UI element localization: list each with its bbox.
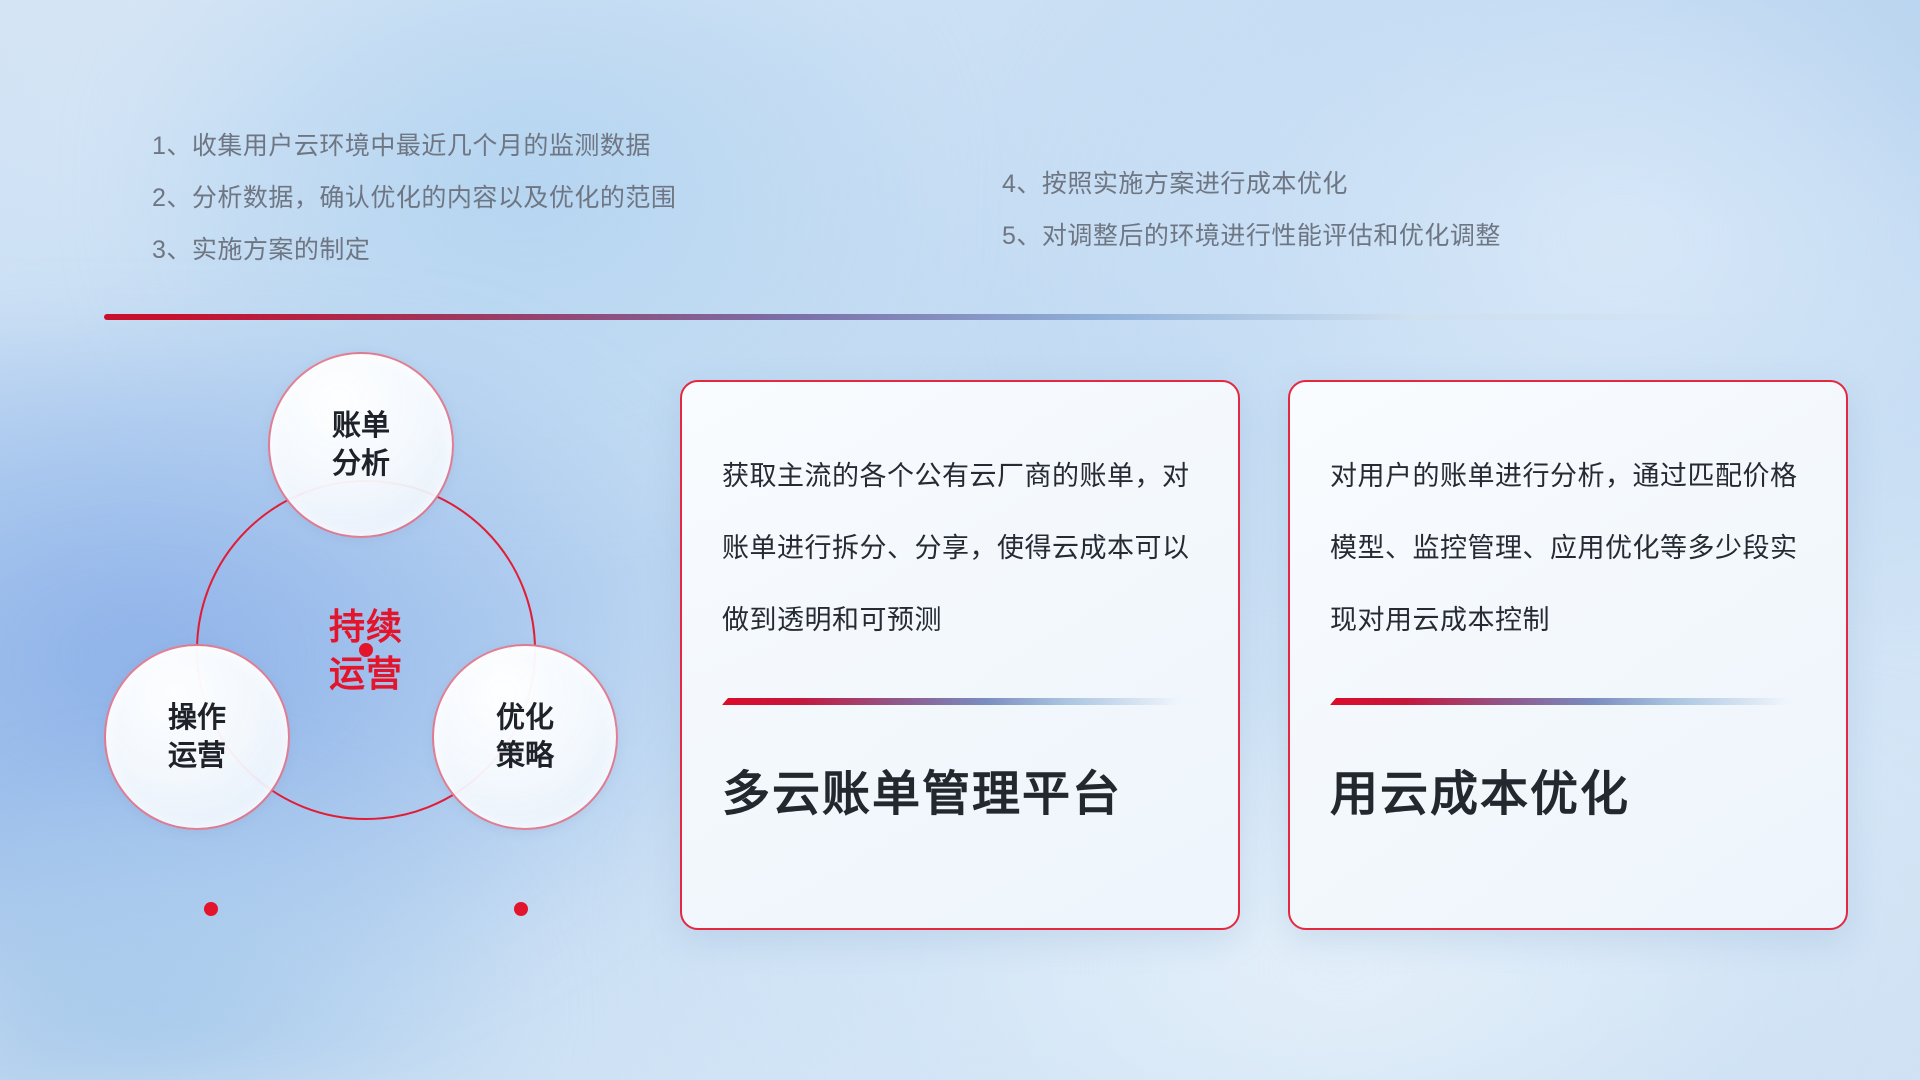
- card-cloud-cost-optimization[interactable]: 对用户的账单进行分析，通过匹配价格模型、监控管理、应用优化等多少段实现对用云成本…: [1288, 380, 1848, 930]
- card-title: 多云账单管理平台: [722, 769, 1198, 822]
- venn-center-label-line2: 运营: [329, 650, 403, 697]
- card-body-text: 获取主流的各个公有云厂商的账单，对账单进行拆分、分享，使得云成本可以做到透明和可…: [722, 440, 1198, 656]
- venn-connector-dot-top: [359, 643, 373, 657]
- bullet-item-5: 5、对调整后的环境进行性能评估和优化调整: [1002, 210, 1501, 262]
- card-body-text: 对用户的账单进行分析，通过匹配价格模型、监控管理、应用优化等多少段实现对用云成本…: [1330, 440, 1806, 656]
- venn-node-bill-analysis-line1: 账单: [332, 407, 390, 445]
- venn-node-operations[interactable]: 操作 运营: [104, 644, 290, 830]
- venn-connector-dot-right: [514, 902, 528, 916]
- venn-node-optimization-line1: 优化: [496, 699, 554, 737]
- bullet-item-1: 1、收集用户云环境中最近几个月的监测数据: [152, 120, 676, 172]
- venn-node-bill-analysis[interactable]: 账单 分析: [268, 352, 454, 538]
- bullet-item-2: 2、分析数据，确认优化的内容以及优化的范围: [152, 172, 676, 224]
- card-divider: [722, 698, 1198, 705]
- venn-node-optimization-line2: 策略: [496, 737, 554, 775]
- bullet-list-right: 4、按照实施方案进行成本优化 5、对调整后的环境进行性能评估和优化调整: [1002, 158, 1501, 262]
- card-divider: [1330, 698, 1806, 705]
- venn-connector-dot-left: [204, 902, 218, 916]
- venn-node-operations-line2: 运营: [168, 737, 226, 775]
- venn-node-bill-analysis-line2: 分析: [332, 445, 390, 483]
- bullet-item-4: 4、按照实施方案进行成本优化: [1002, 158, 1501, 210]
- venn-node-operations-line1: 操作: [168, 699, 226, 737]
- slide-canvas: 1、收集用户云环境中最近几个月的监测数据 2、分析数据，确认优化的内容以及优化的…: [0, 0, 1920, 1080]
- section-divider-rule: [104, 314, 1824, 320]
- card-multi-cloud-billing-platform[interactable]: 获取主流的各个公有云厂商的账单，对账单进行拆分、分享，使得云成本可以做到透明和可…: [680, 380, 1240, 930]
- bullet-list-left: 1、收集用户云环境中最近几个月的监测数据 2、分析数据，确认优化的内容以及优化的…: [152, 120, 676, 276]
- bullet-item-3: 3、实施方案的制定: [152, 224, 676, 276]
- venn-node-optimization[interactable]: 优化 策略: [432, 644, 618, 830]
- venn-diagram: 持续 运营 账单 分析 操作 运营 优化 策略: [96, 352, 636, 932]
- card-title: 用云成本优化: [1330, 769, 1806, 822]
